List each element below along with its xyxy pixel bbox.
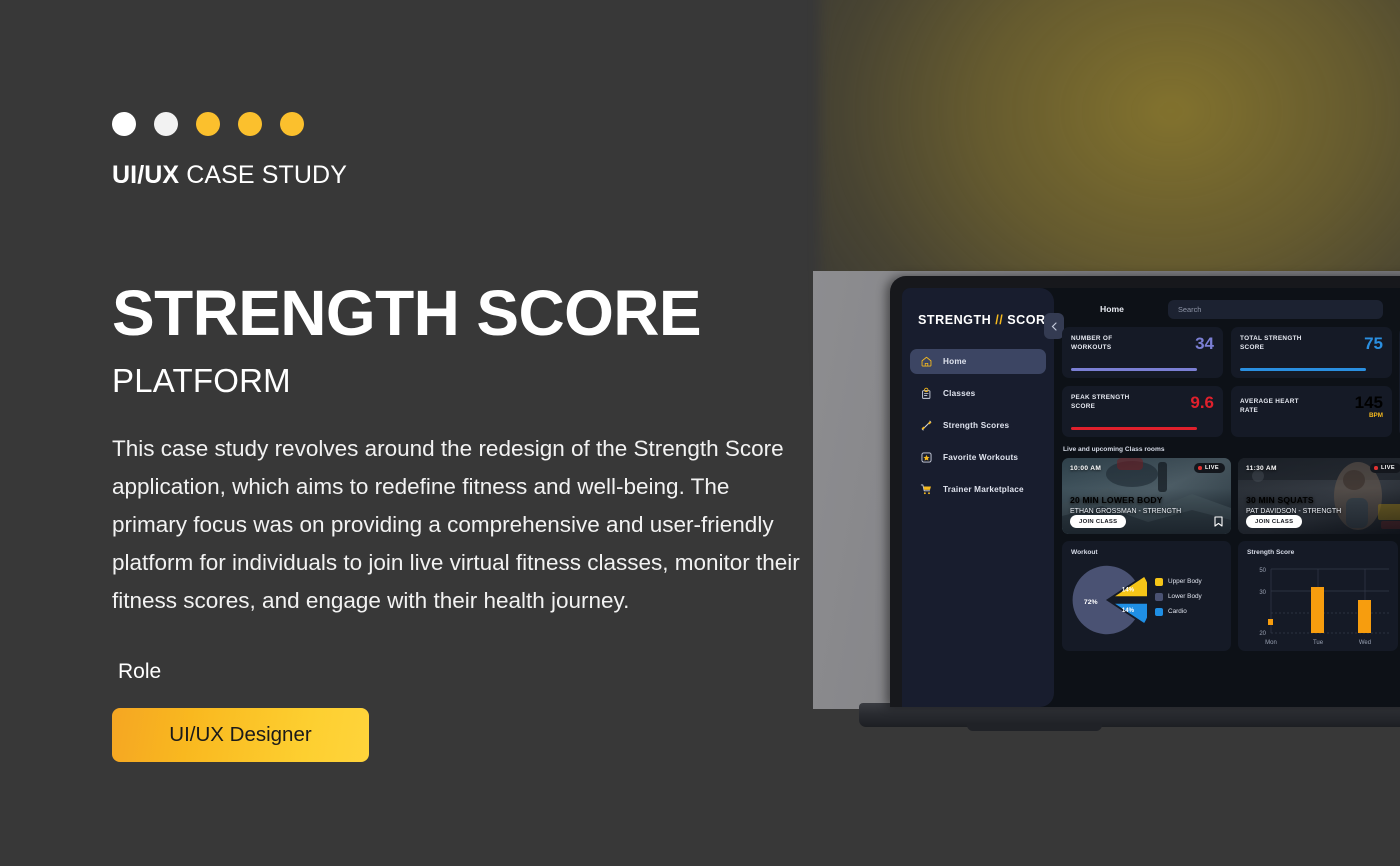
laptop-bezel: STRENGTH // SCORE Home: [890, 276, 1400, 707]
stat-unit: BPM: [1355, 412, 1383, 419]
dot-row: [112, 112, 812, 136]
bar-tue: [1311, 587, 1324, 633]
pie-legend: Upper Body Lower Body: [1155, 578, 1202, 623]
live-dot-icon: [1374, 466, 1378, 470]
role-label: Role: [118, 660, 812, 684]
classes-section-heading: Live and upcoming Class rooms: [1063, 446, 1392, 453]
dumbbell-icon: [920, 419, 933, 432]
pie-slice-label-cardio: 14%: [1122, 607, 1135, 614]
classes-icon: [920, 387, 933, 400]
sidebar-nav: Home Classes: [902, 349, 1054, 502]
laptop-screen: STRENGTH // SCORE Home: [902, 288, 1400, 707]
brand-left: STRENGTH: [918, 313, 995, 327]
x-tick-wed: Wed: [1359, 640, 1371, 646]
chevron-left-icon: [1051, 322, 1057, 331]
stat-accent-bar: [1071, 368, 1197, 371]
topbar: Home: [1062, 296, 1400, 322]
cart-icon: [920, 483, 933, 496]
pie-slice-label-upper-body: 14%: [1122, 587, 1135, 594]
stat-value: 145: [1355, 394, 1383, 411]
y-tick-30: 30: [1259, 590, 1266, 596]
class-coach: ETHAN GROSSMAN - STRENGTH: [1070, 508, 1181, 515]
legend-item-upper-body: Upper Body: [1155, 578, 1202, 586]
pie-slice-label-lower-body: 72%: [1084, 599, 1098, 606]
legend-label: Cardio: [1168, 608, 1187, 615]
main-content: Home NUMBER OF WORKOUTS: [1054, 288, 1400, 707]
stat-card-peak-strength-score[interactable]: PEAK STRENGTH SCORE 9.6: [1062, 386, 1223, 437]
stat-label: NUMBER OF WORKOUTS: [1071, 335, 1137, 352]
role-button[interactable]: UI/UX Designer: [112, 708, 369, 762]
live-badge-label: LIVE: [1205, 465, 1219, 471]
join-class-button[interactable]: JOIN CLASS: [1070, 515, 1126, 528]
dot-1: [112, 112, 136, 136]
bookmark-icon[interactable]: [1214, 516, 1223, 527]
sidebar-item-label: Classes: [943, 389, 975, 398]
bar-wed: [1358, 600, 1371, 633]
legend-swatch: [1155, 593, 1163, 601]
strength-score-bar-widget: Strength Score: [1238, 541, 1398, 651]
sidebar-item-label: Home: [943, 357, 967, 366]
stat-label: TOTAL STRENGTH SCORE: [1240, 335, 1306, 352]
laptop-mockup: STRENGTH // SCORE Home: [813, 271, 1400, 743]
class-coach: PAT DAVIDSON - STRENGTH: [1246, 508, 1341, 515]
legend-swatch: [1155, 578, 1163, 586]
description-paragraph: This case study revolves around the rede…: [112, 430, 802, 620]
dot-5: [280, 112, 304, 136]
stat-label: PEAK STRENGTH SCORE: [1071, 394, 1137, 411]
widget-title: Strength Score: [1247, 549, 1389, 556]
class-name: 30 MIN SQUATS: [1246, 495, 1314, 505]
join-class-button[interactable]: JOIN CLASS: [1246, 515, 1302, 528]
laptop-notch: [967, 723, 1102, 731]
sidebar: STRENGTH // SCORE Home: [902, 288, 1054, 707]
sidebar-item-trainer-marketplace[interactable]: Trainer Marketplace: [910, 477, 1046, 502]
stat-card-average-heart-rate[interactable]: AVERAGE HEART RATE 145 BPM: [1231, 386, 1392, 437]
sidebar-item-classes[interactable]: Classes: [910, 381, 1046, 406]
live-dot-icon: [1198, 466, 1202, 470]
stat-card-number-of-workouts[interactable]: NUMBER OF WORKOUTS 34: [1062, 327, 1223, 378]
stat-label: AVERAGE HEART RATE: [1240, 398, 1306, 415]
page-subtitle: PLATFORM: [112, 362, 812, 400]
dot-2: [154, 112, 178, 136]
stat-accent-bar: [1240, 368, 1366, 371]
home-icon: [920, 355, 933, 368]
strength-score-bar-chart: 50 30 20 Mon Tu: [1247, 561, 1389, 647]
class-name: 20 MIN LOWER BODY: [1070, 495, 1163, 505]
sidebar-item-strength-scores[interactable]: Strength Scores: [910, 413, 1046, 438]
legend-label: Lower Body: [1168, 593, 1202, 600]
legend-swatch: [1155, 608, 1163, 616]
live-badge: LIVE: [1370, 463, 1400, 473]
stat-card-total-strength-score[interactable]: TOTAL STRENGTH SCORE 75: [1231, 327, 1392, 378]
x-tick-mon: Mon: [1265, 640, 1277, 646]
sidebar-item-favorite-workouts[interactable]: Favorite Workouts: [910, 445, 1046, 470]
content-grid: NUMBER OF WORKOUTS 34 TO: [1062, 327, 1400, 651]
class-time: 11:30 AM: [1246, 465, 1277, 472]
sidebar-item-home[interactable]: Home: [910, 349, 1046, 374]
class-card[interactable]: 11:30 AM LIVE 30 MIN SQUATS PAT DAVIDSON…: [1238, 458, 1400, 534]
stat-value: 75: [1364, 335, 1383, 352]
dashboard-lower-widgets: Workout: [1062, 541, 1392, 651]
x-tick-tue: Tue: [1313, 640, 1324, 646]
hero-column: UI/UX CASE STUDY STRENGTH SCORE PLATFORM…: [112, 0, 812, 866]
stat-card-grid: NUMBER OF WORKOUTS 34 TO: [1062, 327, 1392, 437]
stat-value: 9.6: [1190, 394, 1214, 411]
stat-accent-bar: [1240, 427, 1366, 430]
dashboard-app: STRENGTH // SCORE Home: [902, 288, 1400, 707]
workout-pie-widget: Workout: [1062, 541, 1231, 651]
brand-logo: STRENGTH // SCORE: [902, 308, 1054, 327]
bar-mon: [1268, 619, 1273, 625]
sidebar-item-label: Trainer Marketplace: [943, 485, 1024, 494]
class-card-list: 10:00 AM LIVE 20 MIN LOWER BODY ETHAN GR…: [1062, 458, 1392, 534]
legend-item-lower-body: Lower Body: [1155, 593, 1202, 601]
stat-accent-bar: [1071, 427, 1197, 430]
live-badge-label: LIVE: [1381, 465, 1395, 471]
live-badge: LIVE: [1194, 463, 1225, 473]
sidebar-collapse-button[interactable]: [1044, 313, 1064, 339]
page-title: STRENGTH SCORE: [112, 281, 812, 345]
widget-title: Workout: [1071, 549, 1222, 556]
dashboard-left-column: NUMBER OF WORKOUTS 34 TO: [1062, 327, 1392, 651]
legend-item-cardio: Cardio: [1155, 608, 1202, 616]
eyebrow-label: UI/UX CASE STUDY: [112, 161, 812, 190]
eyebrow-rest: CASE STUDY: [179, 161, 347, 189]
class-time: 10:00 AM: [1070, 465, 1101, 472]
breadcrumb: Home: [1062, 304, 1162, 314]
stat-value: 34: [1195, 335, 1214, 352]
sidebar-item-label: Strength Scores: [943, 421, 1009, 430]
y-tick-20: 20: [1259, 631, 1266, 637]
dot-4: [238, 112, 262, 136]
search-input[interactable]: [1168, 300, 1383, 319]
legend-label: Upper Body: [1168, 578, 1202, 585]
sidebar-item-label: Favorite Workouts: [943, 453, 1018, 462]
workout-pie-chart: 72% 14% 14%: [1071, 562, 1147, 638]
star-icon: [920, 451, 933, 464]
dot-3: [196, 112, 220, 136]
eyebrow-bold: UI/UX: [112, 161, 179, 189]
y-tick-50: 50: [1259, 568, 1266, 574]
class-card[interactable]: 10:00 AM LIVE 20 MIN LOWER BODY ETHAN GR…: [1062, 458, 1231, 534]
